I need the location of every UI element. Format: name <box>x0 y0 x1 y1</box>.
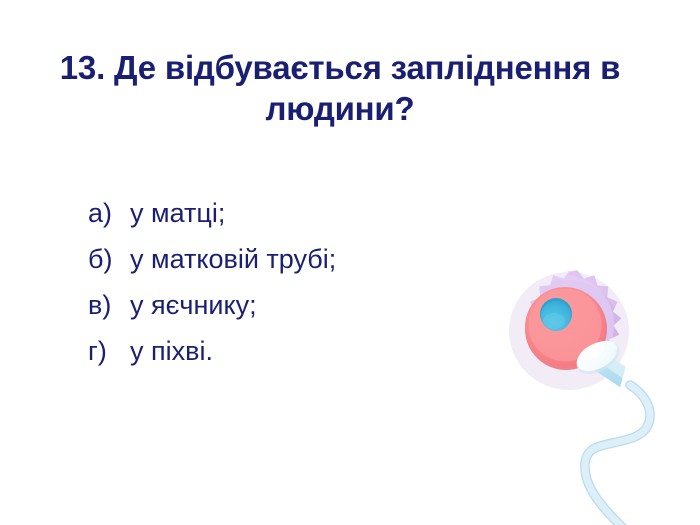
sperm-midpiece <box>588 349 632 387</box>
egg-cytoplasm <box>525 287 607 370</box>
sperm-tail <box>585 385 650 525</box>
option-g-label: у піхві. <box>130 328 213 374</box>
sperm-head <box>571 335 624 381</box>
option-g[interactable]: г) у піхві. <box>88 328 508 374</box>
option-b-letter: б) <box>88 236 130 282</box>
quiz-slide: 13. Де відбувається запліднення в людини… <box>0 0 700 525</box>
egg-cell <box>509 270 629 390</box>
answer-options-list: а) у матці; б) у матковій трубі; в) у яє… <box>88 190 508 374</box>
egg-outer-membrane <box>512 270 622 390</box>
option-b[interactable]: б) у матковій трубі; <box>88 236 508 282</box>
option-v-letter: в) <box>88 282 130 328</box>
option-a[interactable]: а) у матці; <box>88 190 508 236</box>
option-v[interactable]: в) у яєчнику; <box>88 282 508 328</box>
option-g-letter: г) <box>88 328 130 374</box>
fertilization-icon <box>480 255 700 525</box>
option-a-letter: а) <box>88 190 130 236</box>
fertilization-illustration <box>480 255 700 525</box>
option-b-label: у матковій трубі; <box>130 236 336 282</box>
page-title: 13. Де відбувається запліднення в людини… <box>40 48 640 130</box>
option-v-label: у яєчнику; <box>130 282 257 328</box>
egg-nucleus <box>540 298 572 331</box>
option-a-label: у матці; <box>130 190 225 236</box>
